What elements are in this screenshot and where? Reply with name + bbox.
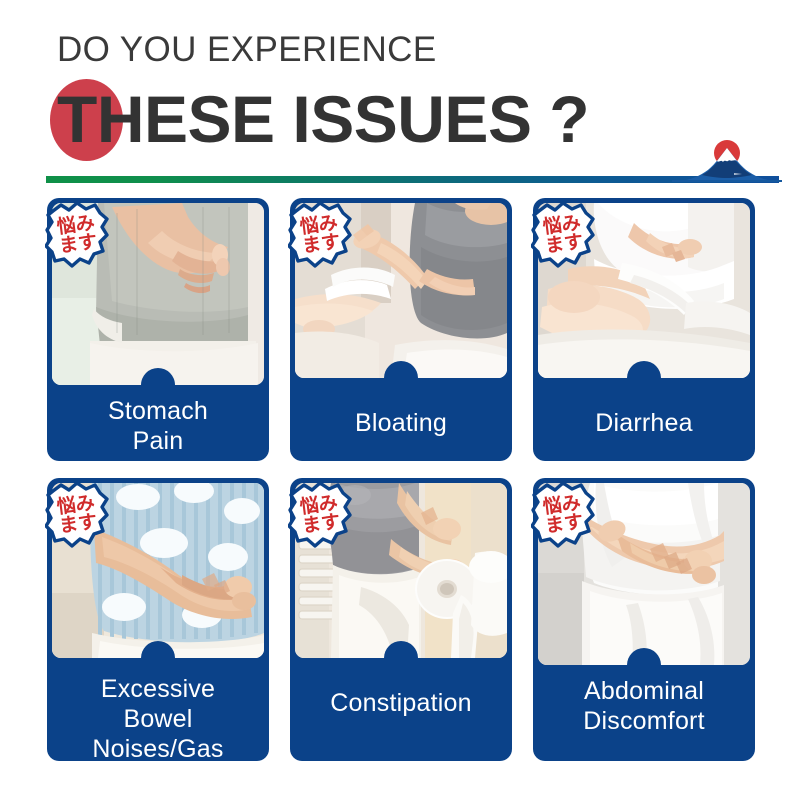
card-label-constipation: Constipation [290,688,512,718]
issue-card-constipation[interactable]: 悩み ます Constipation [290,478,512,761]
badge-line-2: ます [544,513,584,536]
nayamimasu-badge-icon: 悩み ます [45,481,109,549]
card-label-abdominal-discomfort: Abdominal Discomfort [533,676,755,736]
badge-text: 悩み ます [41,197,113,272]
card-label-line: Pain [47,426,269,456]
card-label-line: Constipation [290,688,512,718]
issue-card-abdominal-discomfort[interactable]: 悩み ます Abdominal Discomfort [533,478,755,761]
nayamimasu-badge-icon: 悩み ます [531,201,595,269]
card-label-diarrhea: Diarrhea [533,408,755,438]
badge-line-2: ます [544,233,584,256]
issue-card-bloating[interactable]: 悩み ます Bloating [290,198,512,461]
card-label-stomach-pain: Stomach Pain [47,396,269,456]
nayamimasu-badge-icon: 悩み ます [288,201,352,269]
card-label-line: Discomfort [533,706,755,736]
poster-header: DO YOU EXPERIENCE THESE ISSUES ? [0,0,800,190]
nayamimasu-badge-icon: 悩み ます [288,481,352,549]
badge-text: 悩み ます [527,197,599,272]
page-title: THESE ISSUES ? [57,78,589,160]
issues-grid: 悩み ます Stomach Pain [47,198,755,761]
card-label-line: Bloating [290,408,512,438]
card-label-line: Bowel [47,704,269,734]
nayamimasu-badge-icon: 悩み ます [45,201,109,269]
card-label-line: Diarrhea [533,408,755,438]
card-label-excessive-bowel-noises-gas: Excessive Bowel Noises/Gas [47,674,269,764]
gradient-divider [46,176,779,183]
badge-text: 悩み ます [284,477,356,552]
card-label-bloating: Bloating [290,408,512,438]
card-label-line: Noises/Gas [47,734,269,764]
nayamimasu-badge-icon: 悩み ます [531,481,595,549]
badge-line-2: ます [301,233,341,256]
badge-line-2: ます [301,513,341,536]
poster-root: DO YOU EXPERIENCE THESE ISSUES ? [0,0,800,800]
badge-text: 悩み ます [284,197,356,272]
badge-line-2: ます [58,513,98,536]
card-label-line: Stomach [47,396,269,426]
card-label-line: Abdominal [533,676,755,706]
mount-fuji-icon [672,136,782,182]
card-label-line: Excessive [47,674,269,704]
badge-text: 悩み ます [41,477,113,552]
badge-text: 悩み ます [527,477,599,552]
page-kicker: DO YOU EXPERIENCE [57,30,437,70]
page-title-text: THESE ISSUES ? [57,78,589,160]
issue-card-stomach-pain[interactable]: 悩み ます Stomach Pain [47,198,269,461]
issue-card-diarrhea[interactable]: 悩み ます Diarrhea [533,198,755,461]
badge-line-2: ます [58,233,98,256]
issue-card-excessive-bowel-noises-gas[interactable]: 悩み ます Excessive Bowel Noises/Gas [47,478,269,761]
